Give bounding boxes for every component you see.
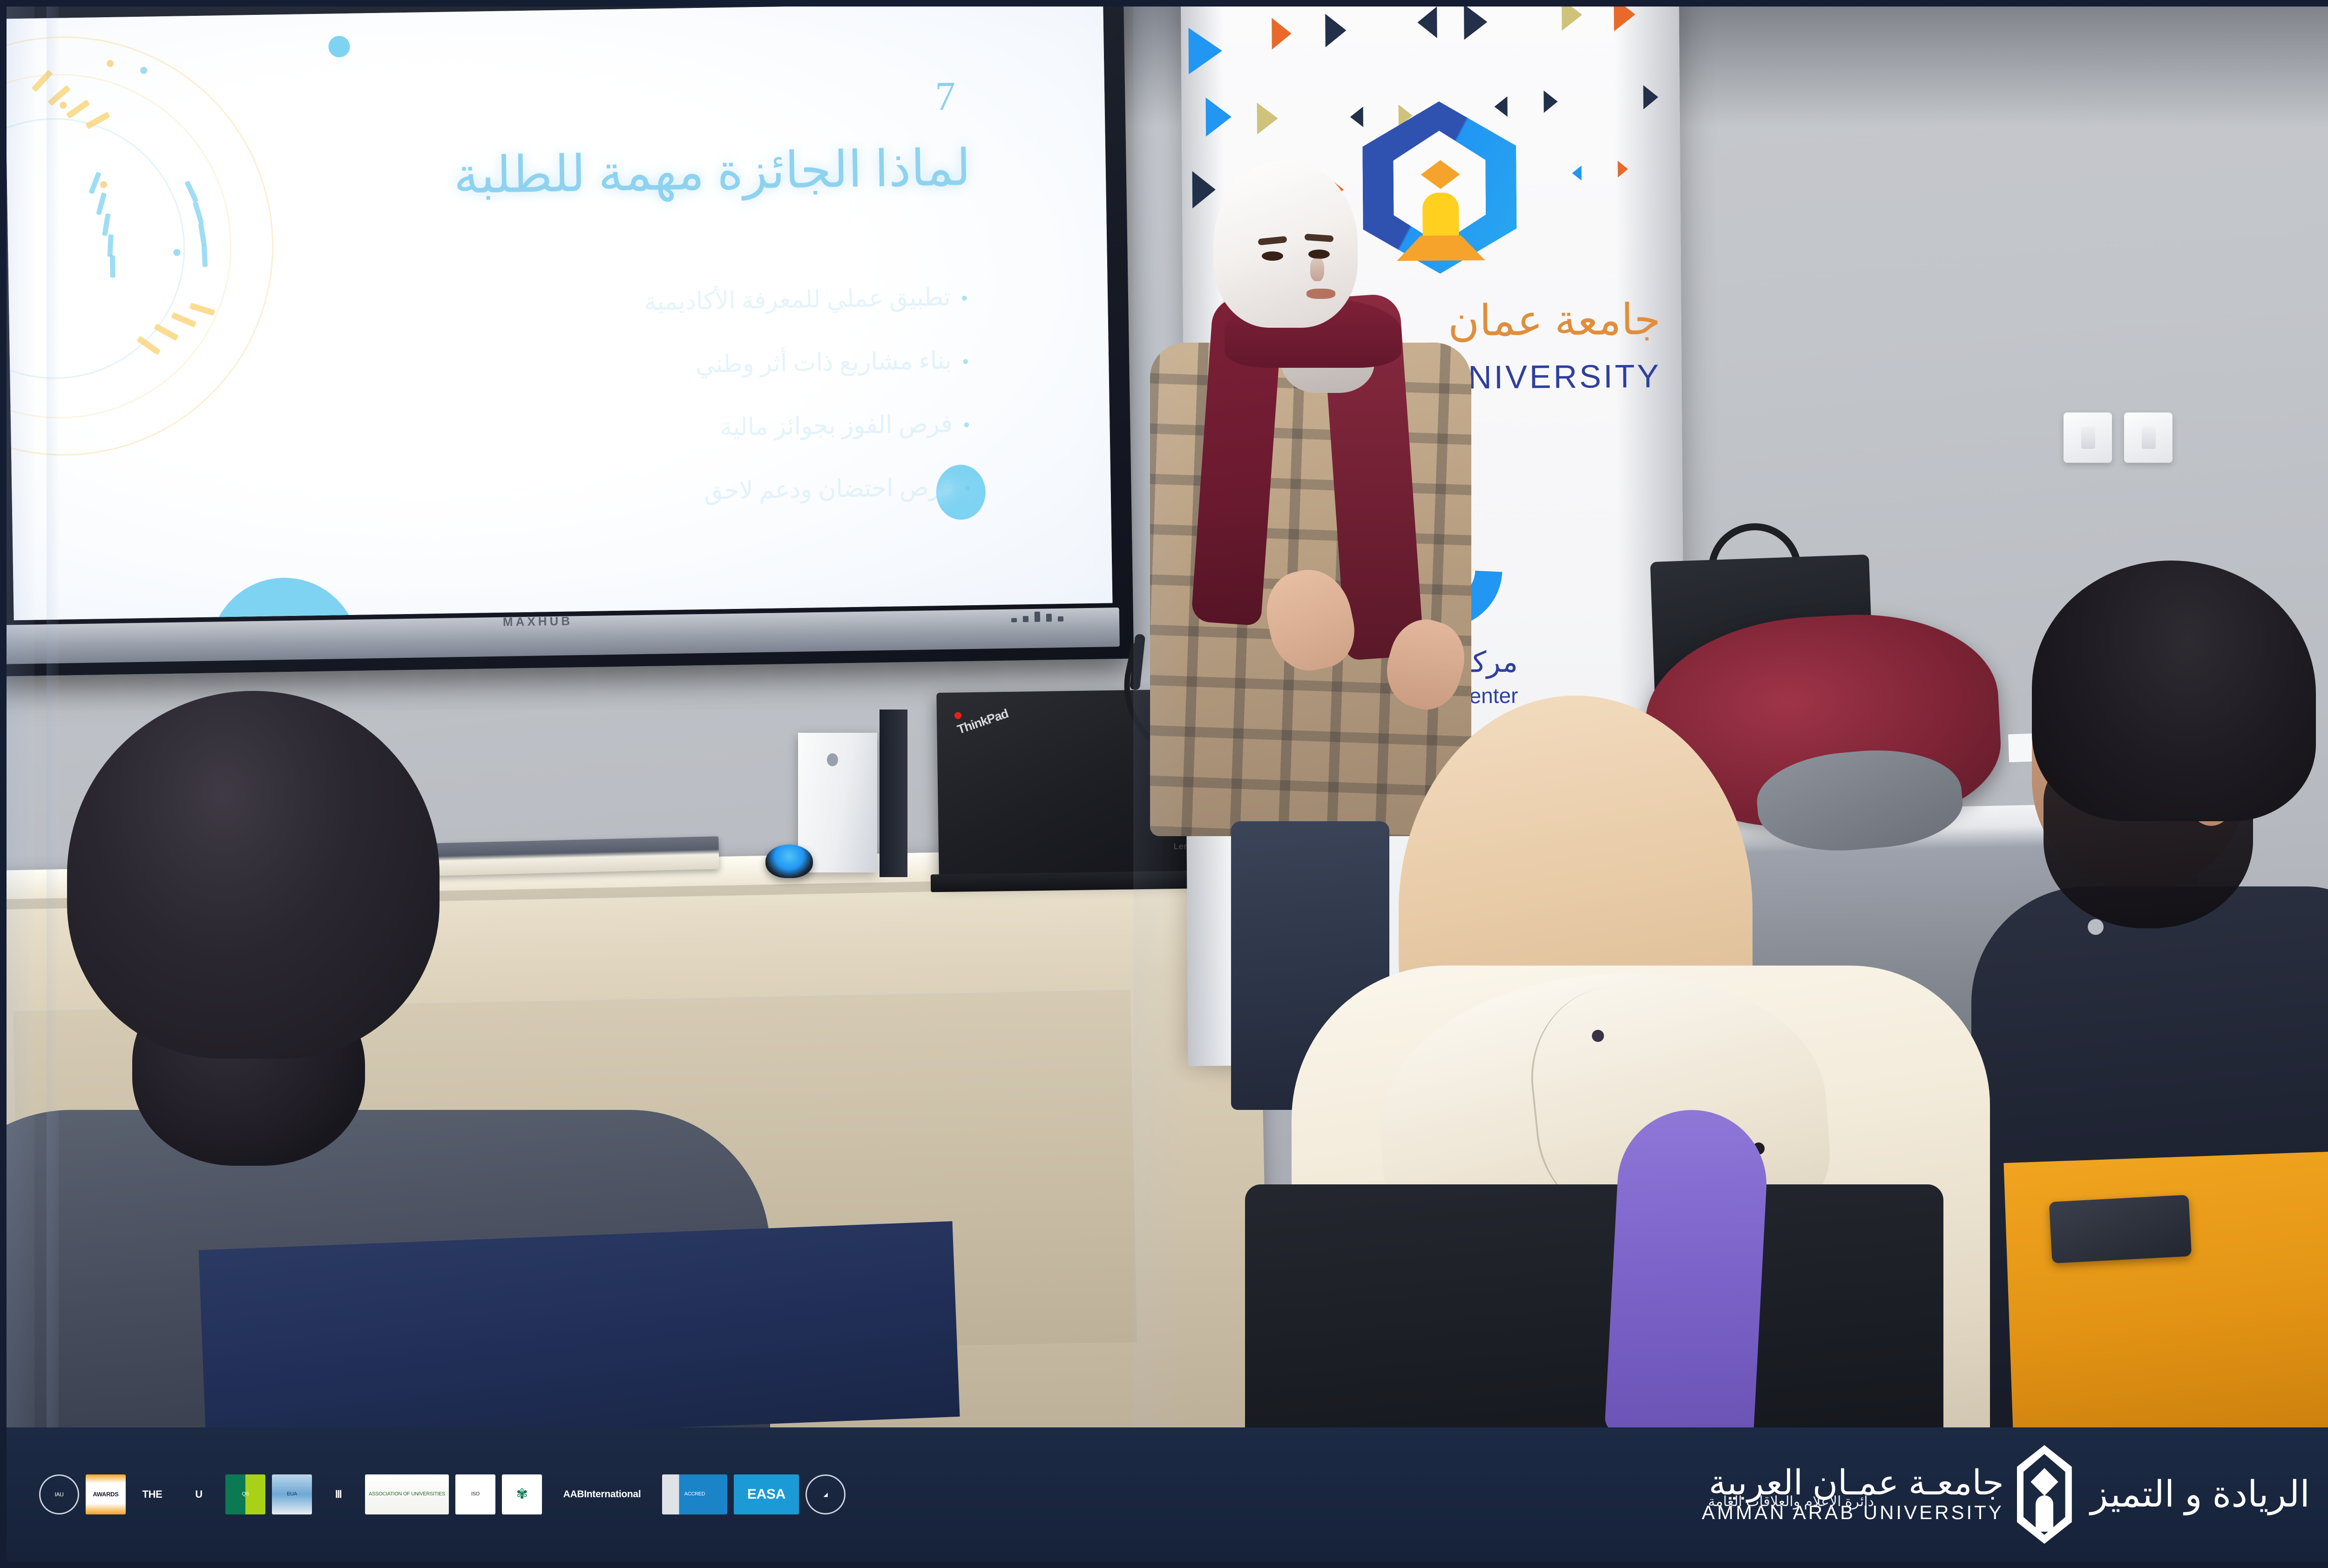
footer-bar: IAU AWARDS THE U QS EUA Ⅲ ASSOCIATION OF… — [7, 1427, 2328, 1561]
student-left-head — [67, 691, 440, 1059]
acc-logo-qs-green: QS — [225, 1474, 265, 1514]
confetti-triangle — [1272, 18, 1291, 49]
event-photograph: 7 لماذا الجائزة مهمة للطلبة تطبيق عملي ل… — [7, 7, 2328, 1427]
acc-logo-times-awards: AWARDS — [86, 1474, 126, 1514]
confetti-triangle — [1614, 7, 1636, 31]
acc-logo-aab-international: AABInternational — [548, 1474, 656, 1514]
confetti-triangle — [1350, 107, 1363, 127]
slide-bullet-list: تطبيق عملي للمعرفة الأكاديمية بناء مشاري… — [644, 283, 972, 541]
slide-bullet: بناء مشاريع ذات أثر وطني — [645, 346, 969, 379]
acc-logo-blue-accred: ACCRED — [662, 1474, 727, 1514]
slide-bullet: تطبيق عملي للمعرفة الأكاديمية — [644, 283, 968, 316]
slide-number: 7 — [935, 73, 956, 120]
acc-logo-pillars: Ⅲ — [318, 1474, 359, 1514]
student-right-hair — [2032, 561, 2316, 821]
tagline-secondary-wrap: دائرة الإعلام والعلاقات العامة — [1708, 1489, 1874, 1510]
acc-logo-the-rankings: THE — [132, 1474, 172, 1514]
hijab-head-cover — [1213, 160, 1358, 328]
lips — [1306, 289, 1335, 299]
university-logo-mark-icon — [2017, 1445, 2072, 1544]
foreground-chair — [1245, 1184, 1943, 1427]
acc-logo-iso: ISO — [455, 1474, 495, 1514]
acc-logo-iau-circle: IAU — [39, 1474, 79, 1514]
confetti-triangle — [1617, 161, 1628, 177]
acc-logo-islamic-green: ✾ — [502, 1474, 542, 1514]
presentation-screen: 7 لماذا الجائزة مهمة للطلبة تطبيق عملي ل… — [7, 7, 1112, 620]
accreditation-logo-row: IAU AWARDS THE U QS EUA Ⅲ ASSOCIATION OF… — [39, 1474, 846, 1514]
display-indicator-leds — [1011, 611, 1063, 622]
acc-logo-easa: EASA — [734, 1474, 799, 1514]
confetti-triangle — [1543, 90, 1557, 113]
slide-bullet: فرص الفوز بجوائز مالية — [646, 410, 970, 443]
confetti-triangle — [1325, 14, 1347, 47]
purple-bag — [1604, 1106, 1770, 1427]
acc-logo-gear-mark: ◢ — [805, 1474, 846, 1514]
jacket-snap-icon — [2088, 919, 2104, 935]
confetti-triangle — [1417, 7, 1437, 38]
tagline-block: الريادة و التميز دائرة الإعلام والعلاقات… — [2091, 1475, 2310, 1514]
coat-snap-icon — [1592, 1030, 1604, 1042]
eye-left — [1262, 251, 1283, 261]
confetti-triangle — [1572, 166, 1582, 181]
maxhub-brand-label: MAXHUB — [503, 614, 573, 629]
logo-body-icon — [2036, 1495, 2053, 1532]
thinkpad-red-dot-icon — [954, 712, 961, 719]
confetti-triangle — [1188, 27, 1222, 74]
monitor-rear — [880, 710, 907, 877]
tagline-primary: الريادة و التميز — [2091, 1475, 2310, 1514]
confetti-triangle — [1257, 102, 1278, 134]
acc-logo-university-network: ASSOCIATION OF UNIVERSITIES — [365, 1474, 449, 1514]
light-switch-right[interactable] — [2124, 412, 2172, 463]
confetti-triangle — [1643, 85, 1658, 109]
eye-right — [1308, 250, 1330, 259]
confetti-triangle — [1562, 7, 1582, 31]
slide-title: لماذا الجائزة مهمة للطلبة — [453, 139, 971, 205]
smart-display: 7 لماذا الجائزة مهمة للطلبة تطبيق عملي ل… — [7, 7, 1134, 676]
nose — [1310, 258, 1324, 281]
screenshot-stage: 7 لماذا الجائزة مهمة للطلبة تطبيق عملي ل… — [0, 0, 2328, 1568]
confetti-triangle — [1205, 97, 1232, 136]
light-switch-left[interactable] — [2064, 412, 2112, 463]
blue-desk — [199, 1221, 960, 1427]
pc-tower — [798, 733, 877, 872]
orange-desk — [2003, 1150, 2328, 1427]
tagline-department: دائرة الإعلام والعلاقات العامة — [1708, 1494, 1874, 1510]
slide-bullet: فرص احتضان ودعم لاحق — [647, 473, 971, 506]
acc-logo-unesco-chair: U — [179, 1474, 219, 1514]
acc-logo-eua-teal: EUA — [272, 1474, 312, 1514]
computer-mouse — [765, 845, 813, 878]
confetti-triangle — [1464, 7, 1488, 40]
smartphone-on-desk — [2049, 1195, 2192, 1264]
thinkpad-logo: ThinkPad — [955, 706, 1010, 737]
